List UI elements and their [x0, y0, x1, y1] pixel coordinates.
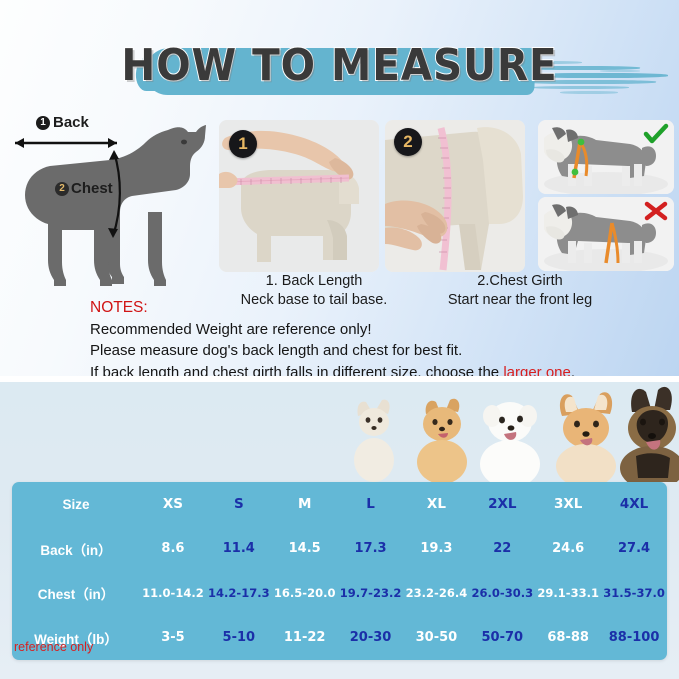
table-header-2xl: 2XL: [469, 496, 535, 512]
notes-line-2: Please measure dog's back length and che…: [90, 340, 650, 361]
dog-german-shepherd: [620, 387, 679, 482]
photo-correct-position: [538, 120, 674, 194]
size-table-section: Size XS S M L XL 2XL 3XL 4XL Back（in） 8.…: [0, 382, 679, 679]
weight-m: 11-22: [272, 630, 338, 645]
back-xl: 19.3: [404, 541, 470, 556]
back-m: 14.5: [272, 541, 338, 556]
table-header-l: L: [338, 496, 404, 512]
table-header-xs: XS: [140, 496, 206, 512]
table-header-4xl: 4XL: [601, 496, 667, 512]
photo-chest-girth: 2: [385, 120, 525, 272]
back-number-badge: 1: [36, 116, 50, 130]
back-4xl: 27.4: [601, 541, 667, 556]
step-1-badge: 1: [229, 130, 257, 158]
page-title: HOW TO MEASURE: [27, 40, 652, 91]
table-row-back: Back（in） 8.6 11.4 14.5 17.3 19.3 22 24.6…: [12, 527, 667, 572]
step-2-badge: 2: [394, 128, 422, 156]
check-icon: [643, 123, 669, 145]
brush-splatter: [560, 91, 618, 94]
caption-chest-line1: 2.Chest Girth: [415, 272, 625, 291]
notes-block: NOTES: Recommended Weight are reference …: [90, 298, 650, 376]
back-3xl: 24.6: [535, 541, 601, 556]
weight-xs: 3-5: [140, 630, 206, 645]
photo-back-length: 1: [219, 120, 379, 272]
size-chart-page: HOW TO MEASURE 1 Back: [0, 0, 679, 679]
table-header-3xl: 3XL: [535, 496, 601, 512]
dog-corgi: [556, 392, 616, 482]
table-header-s: S: [206, 496, 272, 512]
photo-wrong-position: [538, 197, 674, 271]
back-label-text: Back: [53, 114, 89, 131]
chest-xl: 23.2-26.4: [404, 586, 470, 600]
notes-line-1: Recommended Weight are reference only!: [90, 319, 650, 340]
notes-line-3: If back length and chest girth falls in …: [90, 362, 650, 376]
table-row-weight: Weight（lb） 3-5 5-10 11-22 20-30 30-50 50…: [12, 616, 667, 661]
back-measure-label: 1 Back: [36, 114, 89, 131]
notes-line-3-pre: If back length and chest girth falls in …: [90, 364, 503, 376]
chest-4xl: 31.5-37.0: [601, 586, 667, 600]
how-to-measure-section: HOW TO MEASURE 1 Back: [0, 0, 679, 376]
weight-s: 5-10: [206, 630, 272, 645]
reference-only-note: reference only: [14, 640, 93, 654]
weight-xl: 30-50: [404, 630, 470, 645]
table-header-m: M: [272, 496, 338, 512]
table-row-label-back: Back（in）: [12, 539, 140, 559]
cross-icon: [643, 200, 669, 222]
back-l: 17.3: [338, 541, 404, 556]
back-2xl: 22: [469, 541, 535, 556]
size-table: Size XS S M L XL 2XL 3XL 4XL Back（in） 8.…: [12, 482, 667, 660]
table-row-chest: Chest（in） 11.0-14.2 14.2-17.3 16.5-20.0 …: [12, 571, 667, 616]
table-header-row: Size XS S M L XL 2XL 3XL 4XL: [12, 482, 667, 527]
back-xs: 8.6: [140, 541, 206, 556]
chest-s: 14.2-17.3: [206, 586, 272, 600]
notes-heading: NOTES:: [90, 298, 650, 319]
weight-2xl: 50-70: [469, 630, 535, 645]
weight-l: 20-30: [338, 630, 404, 645]
chest-3xl: 29.1-33.1: [535, 586, 601, 600]
notes-line-3-post: .: [571, 364, 575, 376]
chest-2xl: 26.0-30.3: [469, 586, 535, 600]
table-row-label-chest: Chest（in）: [12, 583, 140, 603]
table-header-xl: XL: [404, 496, 470, 512]
dog-breeds-strip-image: [340, 382, 679, 482]
dog-chihuahua: [354, 400, 394, 482]
notes-larger-one-highlight: larger one: [503, 364, 571, 376]
weight-3xl: 68-88: [535, 630, 601, 645]
chest-xs: 11.0-14.2: [140, 586, 206, 600]
weight-4xl: 88-100: [601, 630, 667, 645]
table-row-label-size: Size: [12, 497, 140, 512]
chest-l: 19.7-23.2: [338, 586, 404, 600]
chest-label-text: Chest: [71, 180, 113, 197]
back-s: 11.4: [206, 541, 272, 556]
dog-measurement-diagram: 1 Back 2 Chest: [0, 112, 215, 292]
chest-number-badge: 2: [55, 182, 69, 196]
dog-pomeranian: [417, 399, 467, 482]
dog-silhouette-icon: [0, 112, 215, 292]
dog-bichon-puppy: [480, 402, 540, 482]
caption-back-line1: 1. Back Length: [219, 272, 409, 291]
chest-measure-label: 2 Chest: [55, 180, 113, 197]
chest-m: 16.5-20.0: [272, 586, 338, 600]
